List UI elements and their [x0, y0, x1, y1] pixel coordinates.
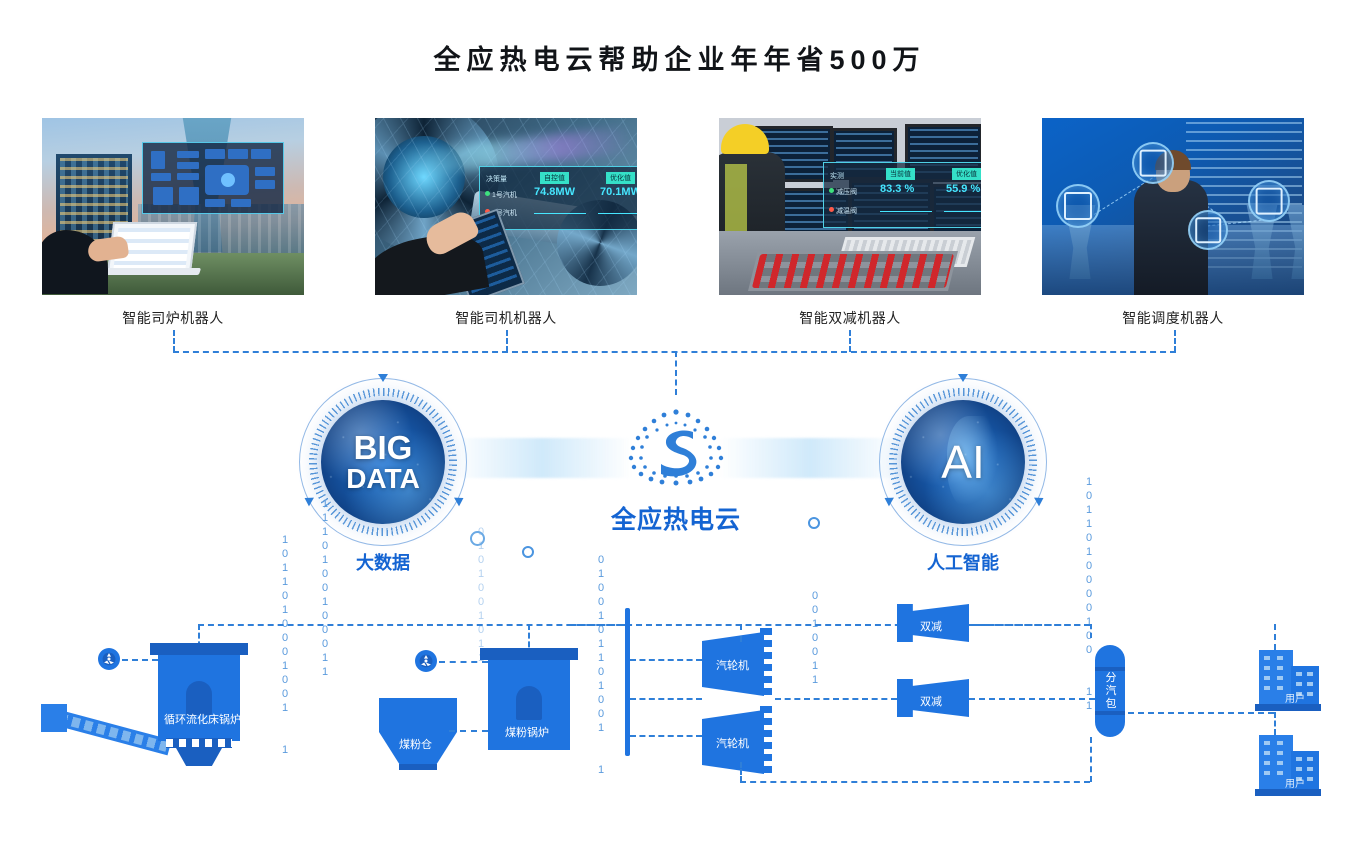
cfb-boiler-door	[186, 681, 212, 715]
analytics-search-icon	[1056, 184, 1100, 228]
turbine-2-label: 汽轮机	[716, 735, 749, 751]
hmi3-col2: 优化值	[952, 168, 981, 180]
coal-silo-outlet	[399, 764, 436, 770]
photo-3-caption: 智能双减机器人	[719, 308, 981, 328]
hmi3-sparkline-2	[944, 211, 981, 212]
cloud-caption: 全应热电云	[576, 500, 776, 536]
binary-column-1: 1011010001001 1	[279, 533, 291, 757]
hmi2-row1: 1号汽机	[492, 190, 517, 200]
hmi2-col1: 自控值	[540, 172, 569, 184]
hmi2-sparkline-2	[598, 213, 637, 214]
binary-column-4: 0100101101001 1	[595, 553, 607, 777]
page-title: 全应热电云帮助企业年年省500万	[0, 38, 1359, 77]
turbine-1-fins	[760, 628, 772, 700]
cfb-boiler-label: 循环流化床锅炉	[164, 711, 241, 727]
pulv-boiler-door	[516, 686, 542, 720]
connector-stub-3	[849, 330, 851, 352]
beam-left	[452, 438, 632, 478]
hmi3-value-2: 55.9 %	[946, 183, 980, 195]
hmi3-sparkline-1	[880, 211, 932, 212]
hmi3-row2: 减温阀	[836, 206, 857, 216]
photo-3-scene: 实测 当前值 优化值 减压阀 减温阀 83.3 % 55.9 %	[719, 118, 981, 295]
hmi3-status-dot-red	[829, 207, 834, 212]
binary-column-2: 1110100100011	[319, 497, 331, 679]
reducer-2-label: 双减	[920, 693, 942, 709]
bigdata-line-2: DATA	[346, 465, 420, 494]
hmi3-col1: 当前值	[886, 168, 915, 180]
connector-stub-1	[173, 330, 175, 352]
bigdata-line-1: BIG	[354, 431, 413, 465]
hmi2-status-dot-green	[485, 191, 490, 196]
photo-card-3: 实测 当前值 优化值 减压阀 减温阀 83.3 % 55.9 %	[719, 118, 981, 295]
photo-card-1	[42, 118, 304, 295]
boiler-flame-icon	[1132, 142, 1174, 184]
hazard-link-cfb	[122, 659, 158, 661]
photo-1-caption: 智能司炉机器人	[42, 308, 304, 328]
ai-caption: 人工智能	[863, 549, 1063, 575]
drum-band-bottom	[1095, 711, 1125, 715]
hmi3-value-1: 83.3 %	[880, 183, 914, 195]
turbine1-top-drop	[740, 624, 742, 642]
return-drop-turbine2	[740, 762, 742, 782]
photo-4-caption: 智能调度机器人	[1042, 308, 1304, 328]
connector-stub-cloud	[675, 351, 677, 395]
trend-chart-icon	[1248, 180, 1290, 222]
header-to-turbine-1	[630, 659, 702, 661]
control-drop-reducer	[1090, 624, 1092, 638]
cfb-boiler-cap	[150, 643, 248, 655]
user-1-base	[1255, 704, 1321, 711]
header-to-turbine-3	[630, 735, 702, 737]
cfb-grate-teeth	[166, 739, 232, 747]
photo-card-2: 决策量 自控值 优化值 1号汽机 2号汽机 74.8MW 70.1MW	[375, 118, 637, 295]
hazard-link-pulv	[439, 661, 488, 663]
coal-silo: 煤粉仓	[379, 698, 457, 772]
hmi2-value-1: 74.8MW	[534, 186, 575, 198]
pulverized-boiler: 煤粉锅炉	[488, 658, 570, 750]
coal-hopper	[41, 704, 67, 732]
hmi2-col2: 优化值	[606, 172, 635, 184]
reducer-1-label: 双减	[920, 618, 942, 634]
ai-line-1: AI	[941, 439, 984, 486]
hmi3-header: 实测	[830, 171, 844, 181]
connector-stub-2	[506, 330, 508, 352]
cloud-logo-svg	[611, 406, 741, 498]
return-bus-lower	[740, 781, 1090, 783]
cfb-boiler: 循环流化床锅炉	[158, 653, 240, 741]
reducer1-to-drum	[969, 624, 1090, 626]
photo-2-scene: 决策量 自控值 优化值 1号汽机 2号汽机 74.8MW 70.1MW	[375, 118, 637, 295]
hmi-overlay-panel-2: 决策量 自控值 优化值 1号汽机 2号汽机 74.8MW 70.1MW	[479, 166, 637, 230]
silo-to-boiler-link	[449, 730, 488, 732]
bigdata-caption: 大数据	[283, 549, 483, 575]
user-2: 用户	[1255, 735, 1321, 797]
user-2-label: 用户	[1285, 775, 1305, 790]
cfb-ash-cone	[176, 748, 222, 766]
coal-silo-label: 煤粉仓	[399, 736, 432, 752]
user-1-label: 用户	[1285, 690, 1305, 705]
hazard-glyph-1	[102, 652, 116, 666]
hmi2-sparkline-1	[534, 213, 586, 214]
return-drop-drum	[1090, 737, 1092, 782]
header-to-turbine-2	[630, 698, 702, 700]
cloud-dots-s-logo	[611, 406, 741, 498]
photo-2-caption: 智能司机机器人	[375, 308, 637, 328]
ai-text-group: AI	[879, 378, 1047, 546]
infographic-canvas: 全应热电云帮助企业年年省500万	[0, 0, 1359, 842]
photo-4-scene	[1042, 118, 1304, 295]
coal-silo-body	[379, 698, 457, 732]
turbine2-to-reducer2	[775, 698, 897, 700]
hmi-overlay-panel-3: 实测 当前值 优化值 减压阀 减温阀 83.3 % 55.9 %	[823, 162, 981, 228]
turbine-1-label: 汽轮机	[716, 657, 749, 673]
steam-drum: 分汽包	[1095, 645, 1125, 737]
hazard-icon-pulv	[415, 650, 437, 672]
turbine-2-fins	[760, 706, 772, 778]
reducer2-to-drum	[969, 698, 1095, 700]
user2-feed-drop	[1274, 712, 1276, 735]
drum-to-user2	[1128, 712, 1274, 714]
user-1: 用户	[1255, 650, 1321, 712]
binary-column-3: 0101001011	[475, 525, 487, 665]
deco-dot-3	[808, 517, 820, 529]
binary-column-6: 1011010000100 11	[1083, 475, 1095, 713]
hmi2-value-2: 70.1MW	[600, 186, 637, 198]
hmi3-status-dot-green	[829, 188, 834, 193]
boiler-to-header-top	[570, 624, 625, 626]
deco-dot-1	[470, 531, 485, 546]
s-glyph	[661, 430, 696, 476]
beam-right	[720, 438, 900, 478]
photo-card-4	[1042, 118, 1304, 295]
hmi3-row1: 减压阀	[836, 187, 857, 197]
hmi2-header: 决策量	[486, 174, 507, 184]
control-buttons-panel	[748, 251, 958, 291]
photo-1-scene	[42, 118, 304, 295]
hmi-overlay-panel	[142, 142, 284, 214]
connector-stub-4	[1174, 330, 1176, 352]
laptop-base	[99, 268, 201, 275]
alarm-bell-icon	[1188, 210, 1228, 250]
pulv-boiler-label: 煤粉锅炉	[505, 724, 549, 740]
user1-feed-drop	[1274, 624, 1276, 650]
deco-dot-2	[522, 546, 534, 558]
drum-band-top	[1095, 667, 1125, 671]
steam-drum-label: 分汽包	[1102, 672, 1118, 711]
pulv-boiler-cap	[480, 648, 578, 660]
hazard-glyph-2	[419, 654, 433, 668]
ai-orb: AI	[879, 378, 1047, 546]
hazard-icon-cfb	[98, 648, 120, 670]
user-2-base	[1255, 789, 1321, 796]
steam-header	[625, 608, 630, 756]
binary-column-5: 0010011	[809, 589, 821, 687]
